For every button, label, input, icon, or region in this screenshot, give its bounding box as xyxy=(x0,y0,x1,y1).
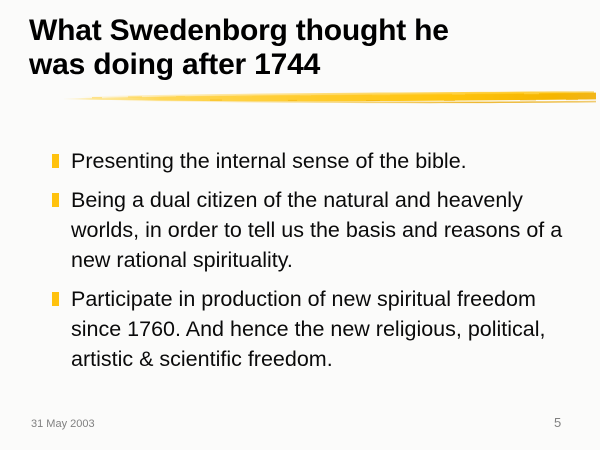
slide-title-line-1: What Swedenborg thought he xyxy=(29,14,569,48)
bullet-text: Being a dual citizen of the natural and … xyxy=(71,185,571,275)
slide-title-line-2: was doing after 1744 xyxy=(29,48,569,82)
bullet-list: Presenting the internal sense of the bib… xyxy=(52,146,582,383)
list-item: Participate in production of new spiritu… xyxy=(52,284,582,374)
list-item: Presenting the internal sense of the bib… xyxy=(52,146,582,176)
footer-date: 31 May 2003 xyxy=(31,418,95,430)
presentation-slide: What Swedenborg thought he was doing aft… xyxy=(0,0,600,450)
square-bullet-icon xyxy=(52,292,59,306)
brush-stroke-divider-icon xyxy=(0,84,600,108)
bullet-text: Presenting the internal sense of the bib… xyxy=(71,146,571,176)
footer-page-number: 5 xyxy=(554,415,578,430)
slide-title: What Swedenborg thought he was doing aft… xyxy=(29,14,569,82)
square-bullet-icon xyxy=(52,154,59,168)
list-item: Being a dual citizen of the natural and … xyxy=(52,185,582,275)
bullet-text: Participate in production of new spiritu… xyxy=(71,284,571,374)
square-bullet-icon xyxy=(52,193,59,207)
